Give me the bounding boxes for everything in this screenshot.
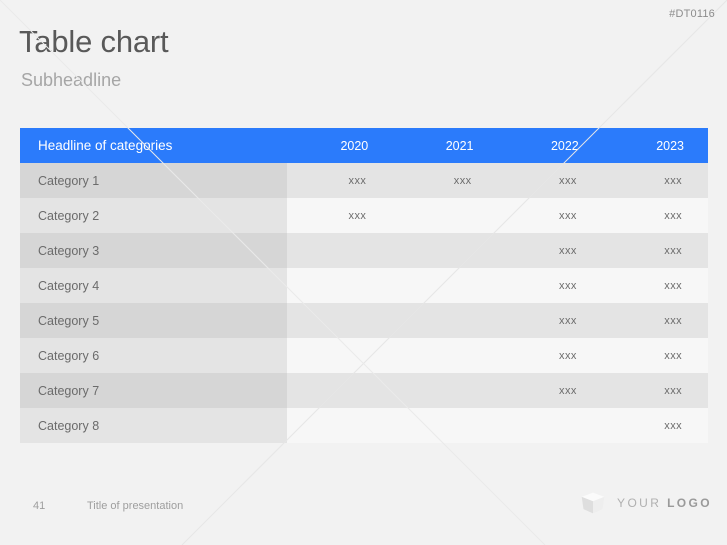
column-header-2022[interactable]: 2022	[498, 128, 603, 163]
table-row[interactable]: Category 7 xxx xxx	[20, 373, 708, 408]
data-table: Headline of categories 2020 2021 2022 20…	[20, 128, 708, 443]
table-row[interactable]: Category 3 xxx xxx	[20, 233, 708, 268]
table-cell-2021	[392, 303, 497, 338]
table-cell-category: Category 7	[20, 373, 287, 408]
table-cell-2020	[287, 233, 392, 268]
logo-text-regular: YOUR	[617, 496, 661, 510]
table-header-row: Headline of categories 2020 2021 2022 20…	[20, 128, 708, 163]
footer-page-number: 41	[33, 500, 45, 512]
document-code: #DT0116	[669, 8, 715, 20]
table-cell-2022: xxx	[498, 338, 603, 373]
table-cell-2023: xxx	[603, 268, 708, 303]
table-cell-2020	[287, 268, 392, 303]
table-cell-category: Category 8	[20, 408, 287, 443]
table-cell-category: Category 1	[20, 163, 287, 198]
table-cell-2022	[498, 408, 603, 443]
table-row[interactable]: Category 1 xxx xxx xxx xxx	[20, 163, 708, 198]
table-cell-2023: xxx	[603, 373, 708, 408]
table-chart: Headline of categories 2020 2021 2022 20…	[20, 128, 708, 443]
logo-text-bold: LOGO	[667, 496, 712, 510]
table-cell-2020	[287, 373, 392, 408]
table-cell-2022: xxx	[498, 373, 603, 408]
column-header-2020[interactable]: 2020	[287, 128, 392, 163]
table-cell-2022: xxx	[498, 163, 603, 198]
table-cell-2020: xxx	[287, 163, 392, 198]
table-cell-2023: xxx	[603, 198, 708, 233]
logo-text: YOUR LOGO	[617, 496, 712, 510]
table-cell-2023: xxx	[603, 233, 708, 268]
table-cell-2021: xxx	[392, 163, 497, 198]
table-cell-2020	[287, 408, 392, 443]
table-cell-2021	[392, 198, 497, 233]
table-cell-2020: xxx	[287, 198, 392, 233]
table-cell-2021	[392, 338, 497, 373]
table-cell-2022: xxx	[498, 268, 603, 303]
table-cell-2023: xxx	[603, 338, 708, 373]
column-header-2023[interactable]: 2023	[603, 128, 708, 163]
table-cell-2022: xxx	[498, 233, 603, 268]
table-row[interactable]: Category 5 xxx xxx	[20, 303, 708, 338]
column-header-categories[interactable]: Headline of categories	[20, 128, 287, 163]
table-row[interactable]: Category 8 xxx	[20, 408, 708, 443]
table-cell-2021	[392, 373, 497, 408]
table-cell-2023: xxx	[603, 408, 708, 443]
table-cell-category: Category 4	[20, 268, 287, 303]
page-title: Table chart	[19, 24, 168, 60]
table-cell-2022: xxx	[498, 303, 603, 338]
table-row[interactable]: Category 6 xxx xxx	[20, 338, 708, 373]
logo: YOUR LOGO	[580, 490, 712, 516]
table-body: Category 1 xxx xxx xxx xxx Category 2 xx…	[20, 163, 708, 443]
table-cell-2022: xxx	[498, 198, 603, 233]
table-cell-2021	[392, 268, 497, 303]
table-cell-category: Category 6	[20, 338, 287, 373]
table-cell-category: Category 5	[20, 303, 287, 338]
table-cell-2020	[287, 338, 392, 373]
table-row[interactable]: Category 4 xxx xxx	[20, 268, 708, 303]
table-cell-2023: xxx	[603, 303, 708, 338]
table-cell-category: Category 2	[20, 198, 287, 233]
table-cell-2023: xxx	[603, 163, 708, 198]
cube-logo-icon	[580, 490, 606, 516]
footer-presentation-title: Title of presentation	[87, 500, 183, 512]
column-header-2021[interactable]: 2021	[392, 128, 497, 163]
page-subtitle: Subheadline	[21, 70, 121, 91]
table-cell-2020	[287, 303, 392, 338]
table-row[interactable]: Category 2 xxx xxx xxx	[20, 198, 708, 233]
table-header: Headline of categories 2020 2021 2022 20…	[20, 128, 708, 163]
table-cell-2021	[392, 408, 497, 443]
table-cell-2021	[392, 233, 497, 268]
table-cell-category: Category 3	[20, 233, 287, 268]
